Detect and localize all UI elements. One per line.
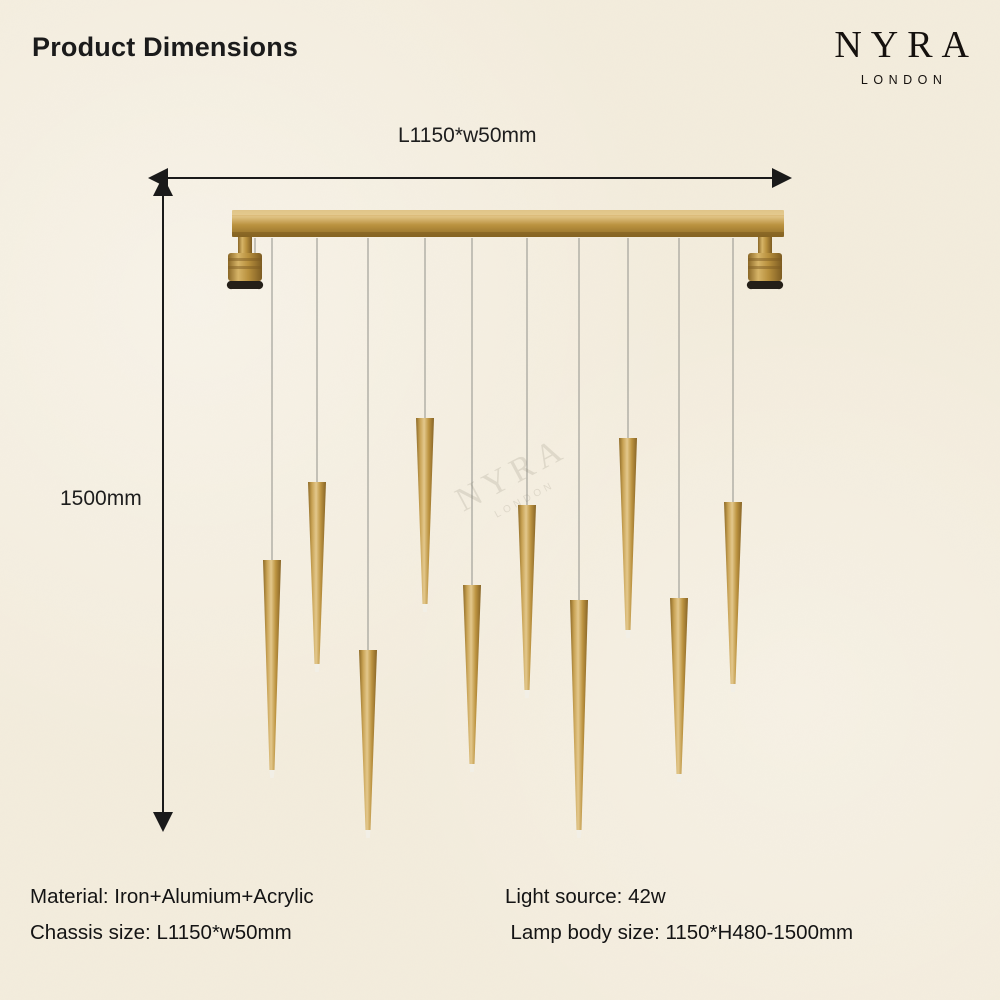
pendant-cone bbox=[463, 585, 481, 772]
light-source-label: Light source: 42w bbox=[505, 885, 975, 909]
ceiling-bar bbox=[232, 210, 784, 237]
canopy-mount-left bbox=[227, 237, 263, 289]
lamp-body-size-label: Lamp body size: 1150*H480-1500mm bbox=[505, 921, 981, 945]
specifications: Material: Iron+Alumium+Acrylic Light sou… bbox=[30, 885, 980, 957]
chassis-size-label: Chassis size: L1150*w50mm bbox=[30, 921, 505, 945]
dimension-top-label: L1150*w50mm bbox=[398, 124, 537, 148]
pendant-cone bbox=[724, 502, 742, 692]
pendant-cone bbox=[308, 482, 326, 672]
pendant-cone bbox=[263, 560, 281, 778]
suspension-wires bbox=[255, 238, 765, 650]
pendant-cone bbox=[570, 600, 588, 838]
canopy-mount-right bbox=[747, 237, 783, 289]
pendant-cone bbox=[619, 438, 637, 638]
pendant-cone bbox=[416, 418, 434, 612]
pendant-cones bbox=[263, 418, 742, 838]
dimension-left-label: 1500mm bbox=[60, 487, 142, 511]
pendant-cone bbox=[359, 650, 377, 838]
spec-row: Material: Iron+Alumium+Acrylic Light sou… bbox=[30, 885, 980, 909]
spec-row: Chassis size: L1150*w50mm Lamp body size… bbox=[30, 921, 980, 945]
product-diagram bbox=[0, 0, 1000, 1000]
pendant-cone bbox=[670, 598, 688, 782]
material-label: Material: Iron+Alumium+Acrylic bbox=[30, 885, 505, 909]
page-background: Product Dimensions NYRA LONDON bbox=[0, 0, 1000, 1000]
pendant-cone bbox=[518, 505, 536, 698]
